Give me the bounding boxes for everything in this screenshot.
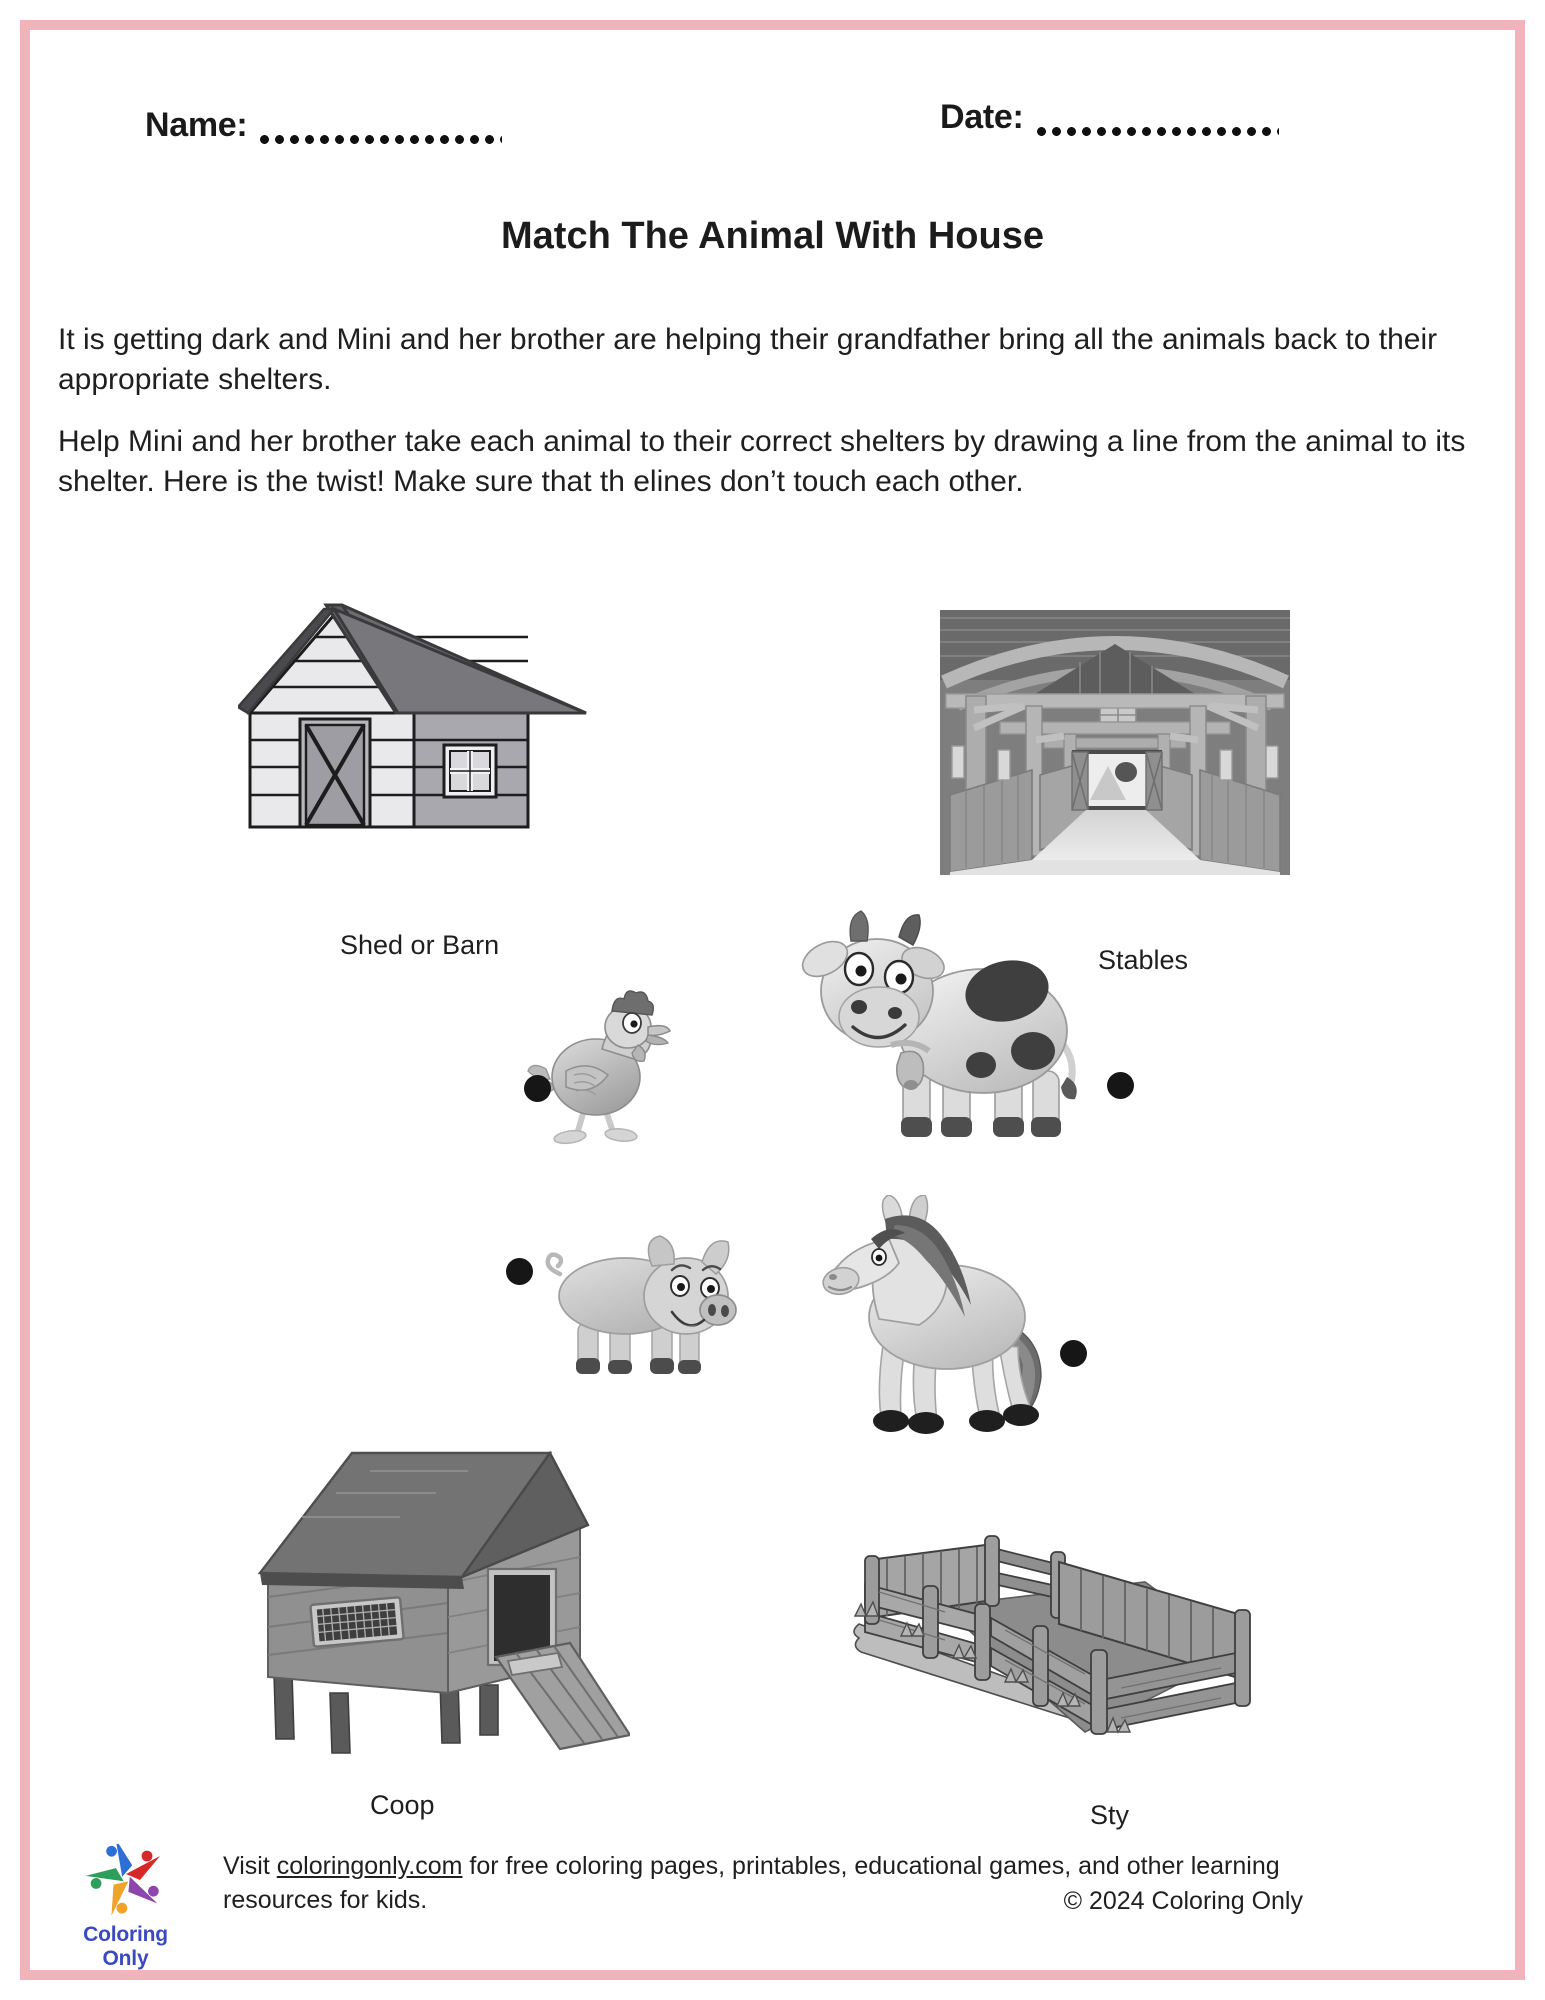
shelter-image-shed-or-barn[interactable] xyxy=(238,595,588,835)
pig-icon xyxy=(540,1230,740,1390)
connector-dot-pig[interactable] xyxy=(506,1258,533,1285)
sty-icon xyxy=(845,1520,1275,1800)
shelter-label-stables: Stables xyxy=(1098,945,1188,976)
footer-visit-prefix: Visit xyxy=(223,1852,277,1880)
pinwheel-logo-icon xyxy=(76,1844,176,1916)
connector-dot-cow[interactable] xyxy=(1107,1072,1134,1099)
copyright-text: © 2024 Coloring Only xyxy=(1064,1887,1303,1916)
connector-dot-chicken[interactable] xyxy=(524,1075,551,1102)
shelter-label-coop: Coop xyxy=(370,1790,435,1821)
stables-icon xyxy=(940,610,1290,875)
coop-icon xyxy=(240,1405,630,1755)
barn-icon xyxy=(238,595,588,830)
logo-text: Coloring Only xyxy=(58,1923,193,1971)
animal-image-chicken[interactable] xyxy=(520,965,680,1160)
shelter-image-stables[interactable] xyxy=(940,610,1290,880)
shelter-image-coop[interactable] xyxy=(240,1405,630,1760)
worksheet-page: Name: Date: Match The Animal With House … xyxy=(0,0,1545,2000)
chicken-icon xyxy=(520,965,680,1155)
coloring-only-logo[interactable]: Coloring Only xyxy=(58,1844,193,1971)
animal-image-pig[interactable] xyxy=(540,1230,740,1395)
page-footer: Coloring Only Visit coloringonly.com for… xyxy=(58,1842,1488,1952)
shelter-label-sty: Sty xyxy=(1090,1800,1129,1831)
horse-icon xyxy=(775,1195,1075,1445)
matching-activity-area: Shed or Barn xyxy=(0,0,1545,2000)
coloringonly-link[interactable]: coloringonly.com xyxy=(277,1852,463,1880)
connector-dot-horse[interactable] xyxy=(1060,1340,1087,1367)
animal-image-cow[interactable] xyxy=(795,905,1095,1160)
animal-image-horse[interactable] xyxy=(775,1195,1075,1450)
shelter-label-shed-or-barn: Shed or Barn xyxy=(340,930,499,961)
shelter-image-sty[interactable] xyxy=(845,1520,1275,1805)
cow-icon xyxy=(795,905,1095,1155)
